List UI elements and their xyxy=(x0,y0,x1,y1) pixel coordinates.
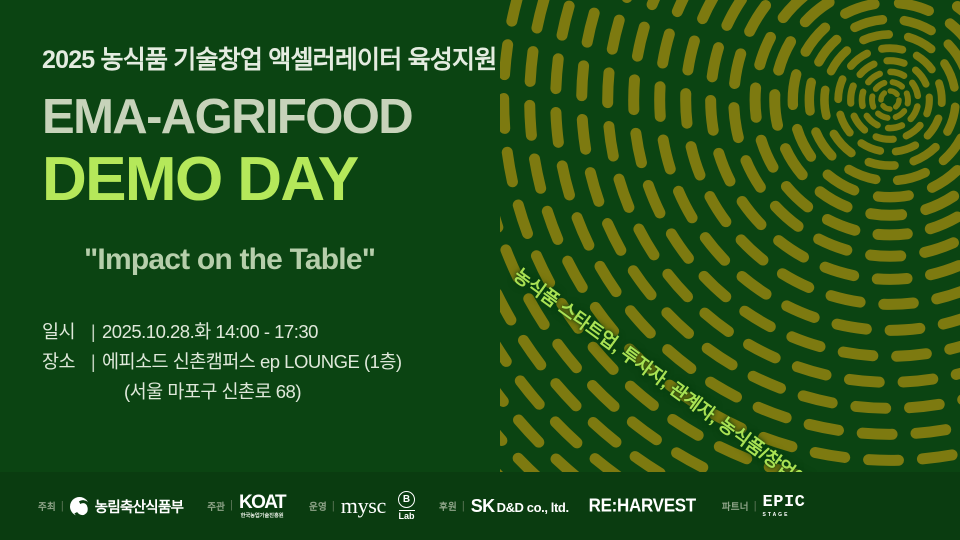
sponsor-separator: | xyxy=(61,501,64,512)
mysc-logo-label: mysc xyxy=(341,493,386,519)
detail-row-venue: 장소 | 에피소드 신촌캠퍼스 ep LOUNGE (1층) xyxy=(42,347,560,377)
mafra-logo-label: 농림축산식품부 xyxy=(95,496,183,517)
detail-venue-address: (서울 마포구 신촌로 68) xyxy=(42,377,560,407)
sponsor-organizer: 주관 | KOAT 한국농업기술진흥원 xyxy=(207,493,285,519)
program-kicker: 2025 농식품 기술창업 액셀러레이터 육성지원 xyxy=(42,0,560,76)
epic-logo: EPIC STAGE xyxy=(763,494,806,518)
blab-logo-label: B xyxy=(398,491,415,508)
sponsor-blab: B Lab xyxy=(398,491,415,521)
sponsor-separator: | xyxy=(230,500,233,511)
blab-logo-sublabel: Lab xyxy=(399,510,415,521)
title-subline: EMA-AGRIFOOD xyxy=(42,76,560,143)
sponsor-role-label: 파트너 xyxy=(722,499,749,513)
detail-label-venue: 장소 xyxy=(42,347,84,377)
blab-logo: B Lab xyxy=(398,491,415,521)
sponsor-role-label: 후원 xyxy=(439,499,457,513)
sponsor-role-label: 주관 xyxy=(207,499,225,513)
sponsor-reharvest: RE:HARVEST xyxy=(589,496,696,516)
reharvest-logo-label: RE:HARVEST xyxy=(589,495,696,517)
epic-logo-label: EPIC xyxy=(763,494,806,511)
sponsor-bar: 주최 | 농림축산식품부 주관 | KOAT 한국농업기술진흥원 운영 | my… xyxy=(0,472,960,540)
sponsor-separator: | xyxy=(754,501,757,512)
sponsor-host: 주최 | 농림축산식품부 xyxy=(38,496,183,517)
sponsor-partner: 파트너 | EPIC STAGE xyxy=(722,494,806,518)
detail-separator: | xyxy=(84,317,102,347)
epic-logo-sublabel: STAGE xyxy=(763,513,790,518)
skdd-logo: SK D&D co., ltd. xyxy=(471,496,569,517)
event-tagline: "Impact on the Table" xyxy=(42,211,560,277)
mafra-logo: 농림축산식품부 xyxy=(70,496,183,517)
detail-value-venue: 에피소드 신촌캠퍼스 ep LOUNGE (1층) xyxy=(102,347,402,377)
poster-canvas: 농식품 스타트업, 투자자, 관계자, 농식품/창업에 관심있는 청년 2025… xyxy=(0,0,960,540)
skdd-logo-label: SK xyxy=(471,496,495,517)
sponsor-role-label: 주최 xyxy=(38,499,56,513)
detail-label-date: 일시 xyxy=(42,317,84,347)
sponsor-separator: | xyxy=(462,501,465,512)
koat-logo-label: KOAT xyxy=(239,493,285,512)
page-title: DEMO DAY xyxy=(42,143,560,211)
taegeuk-icon xyxy=(70,497,89,516)
sponsor-role-label: 운영 xyxy=(309,499,327,513)
main-content: 2025 농식품 기술창업 액셀러레이터 육성지원 EMA-AGRIFOOD D… xyxy=(0,0,560,470)
sponsor-supporter: 후원 | SK D&D co., ltd. xyxy=(439,496,569,517)
event-details: 일시 | 2025.10.28.화 14:00 - 17:30 장소 | 에피소… xyxy=(42,277,560,407)
skdd-logo-sublabel: D&D co., ltd. xyxy=(497,500,569,515)
detail-separator: | xyxy=(84,347,102,377)
sponsor-operator: 운영 | mysc xyxy=(309,493,386,519)
detail-value-date: 2025.10.28.화 14:00 - 17:30 xyxy=(102,317,318,347)
sponsor-separator: | xyxy=(332,501,335,512)
koat-logo: KOAT 한국농업기술진흥원 xyxy=(239,493,285,519)
koat-logo-sublabel: 한국농업기술진흥원 xyxy=(241,514,284,519)
detail-row-date: 일시 | 2025.10.28.화 14:00 - 17:30 xyxy=(42,317,560,347)
